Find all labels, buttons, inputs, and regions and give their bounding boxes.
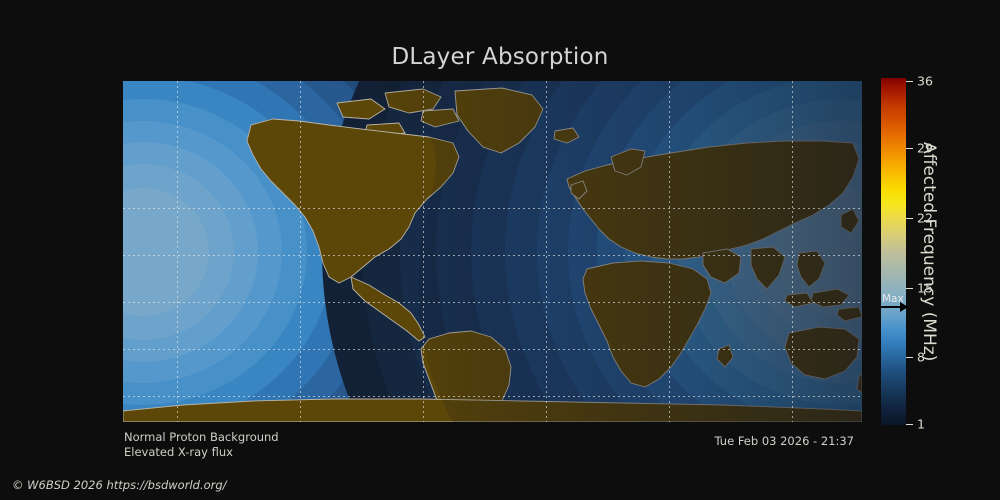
colorbar: 36 29 22 15 8 1 xyxy=(881,78,906,425)
colorbar-max-marker: Max xyxy=(881,294,909,316)
page-title: DLayer Absorption xyxy=(0,44,1000,70)
copyright-text: © W6BSD 2026 https://bsdworld.org/ xyxy=(12,478,227,492)
colorbar-gradient xyxy=(881,78,906,425)
xray-status-text: Elevated X-ray flux xyxy=(124,445,233,459)
continents-layer xyxy=(123,81,862,422)
dlayer-absorption-figure: DLayer Absorption xyxy=(0,0,1000,500)
timestamp-text: Tue Feb 03 2026 - 21:37 xyxy=(715,434,854,448)
world-map-plot xyxy=(123,81,862,422)
proton-status-text: Normal Proton Background xyxy=(124,430,279,444)
colorbar-axis-label: Affected Frequency (MHz) xyxy=(918,78,940,425)
max-marker-arrow-icon xyxy=(900,302,908,312)
